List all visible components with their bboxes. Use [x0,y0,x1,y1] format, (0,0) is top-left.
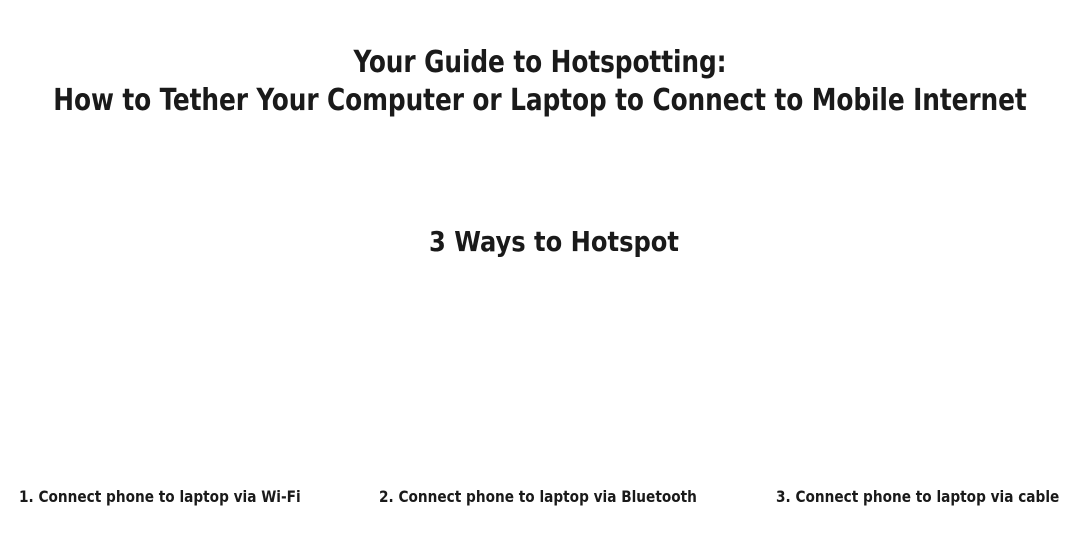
section-heading: 3 Ways to Hotspot [22,224,1080,260]
step-illustration-bluetooth [370,288,710,476]
page-title-line-2: How to Tether Your Computer or Laptop to… [43,82,1037,120]
page-title-line-1: Your Guide to Hotspotting: [43,44,1037,82]
page-title: Your Guide to Hotspotting: How to Tether… [0,44,1080,120]
step-captions: 1. Connect phone to laptop via Wi-Fi 2. … [0,486,1080,516]
step-caption-bluetooth: 2. Connect phone to laptop via Bluetooth [379,486,697,508]
step-caption-wifi: 1. Connect phone to laptop via Wi-Fi [19,486,301,508]
step-illustration-cable [740,288,1080,476]
step-caption-cable: 3. Connect phone to laptop via cable [776,486,1059,508]
steps-illustration-band [0,288,1080,476]
infographic-page: Your Guide to Hotspotting: How to Tether… [0,0,1080,552]
step-illustration-wifi [0,288,340,476]
